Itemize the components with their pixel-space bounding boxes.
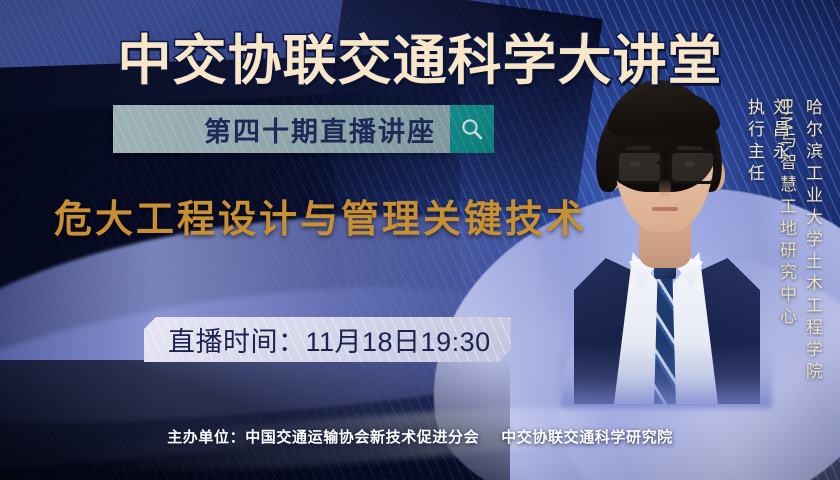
- footer-organizers: 主办单位：中国交通运输协会新技术促进分会中交协联交通科学研究院: [0, 426, 840, 447]
- subtitle-bar: 第四十期直播讲座: [113, 105, 450, 153]
- organizer-primary: 主办单位：中国交通运输协会新技术促进分会: [167, 429, 479, 446]
- organizer-secondary: 中交协联交通科学研究院: [501, 429, 673, 446]
- mouth: [652, 207, 678, 211]
- lens-left: [616, 150, 663, 184]
- lens-right: [669, 150, 716, 184]
- speaker-portrait: [566, 74, 766, 404]
- speaker-name-block: 刘昌永执行主任: [742, 98, 792, 186]
- portrait-bottom-fade: [560, 342, 772, 408]
- glasses-bridge: [657, 161, 670, 164]
- lecture-topic: 危大工程设计与管理关键技术: [54, 188, 587, 243]
- speaker-name: 刘昌永: [770, 98, 789, 164]
- webinar-poster: 中交协联交通科学大讲堂 第四十期直播讲座 危大工程设计与管理关键技术 直播时间：…: [0, 0, 840, 480]
- eyeglasses: [616, 150, 713, 180]
- speaker-organization-line-1: 哈尔滨工业大学土木工程学院: [800, 98, 825, 384]
- speaker-role: 执行主任: [745, 98, 764, 186]
- search-icon: [460, 117, 484, 141]
- subtitle-label: 第四十期直播讲座: [204, 110, 450, 149]
- broadcast-time-badge: 直播时间：11月18日19:30: [144, 317, 511, 362]
- search-icon-box[interactable]: [450, 105, 494, 153]
- page-title: 中交协联交通科学大讲堂: [0, 16, 840, 95]
- nose: [659, 178, 671, 196]
- broadcast-time-label: 直播时间：11月18日19:30: [168, 320, 491, 359]
- background-bottom-shadow: [0, 360, 510, 480]
